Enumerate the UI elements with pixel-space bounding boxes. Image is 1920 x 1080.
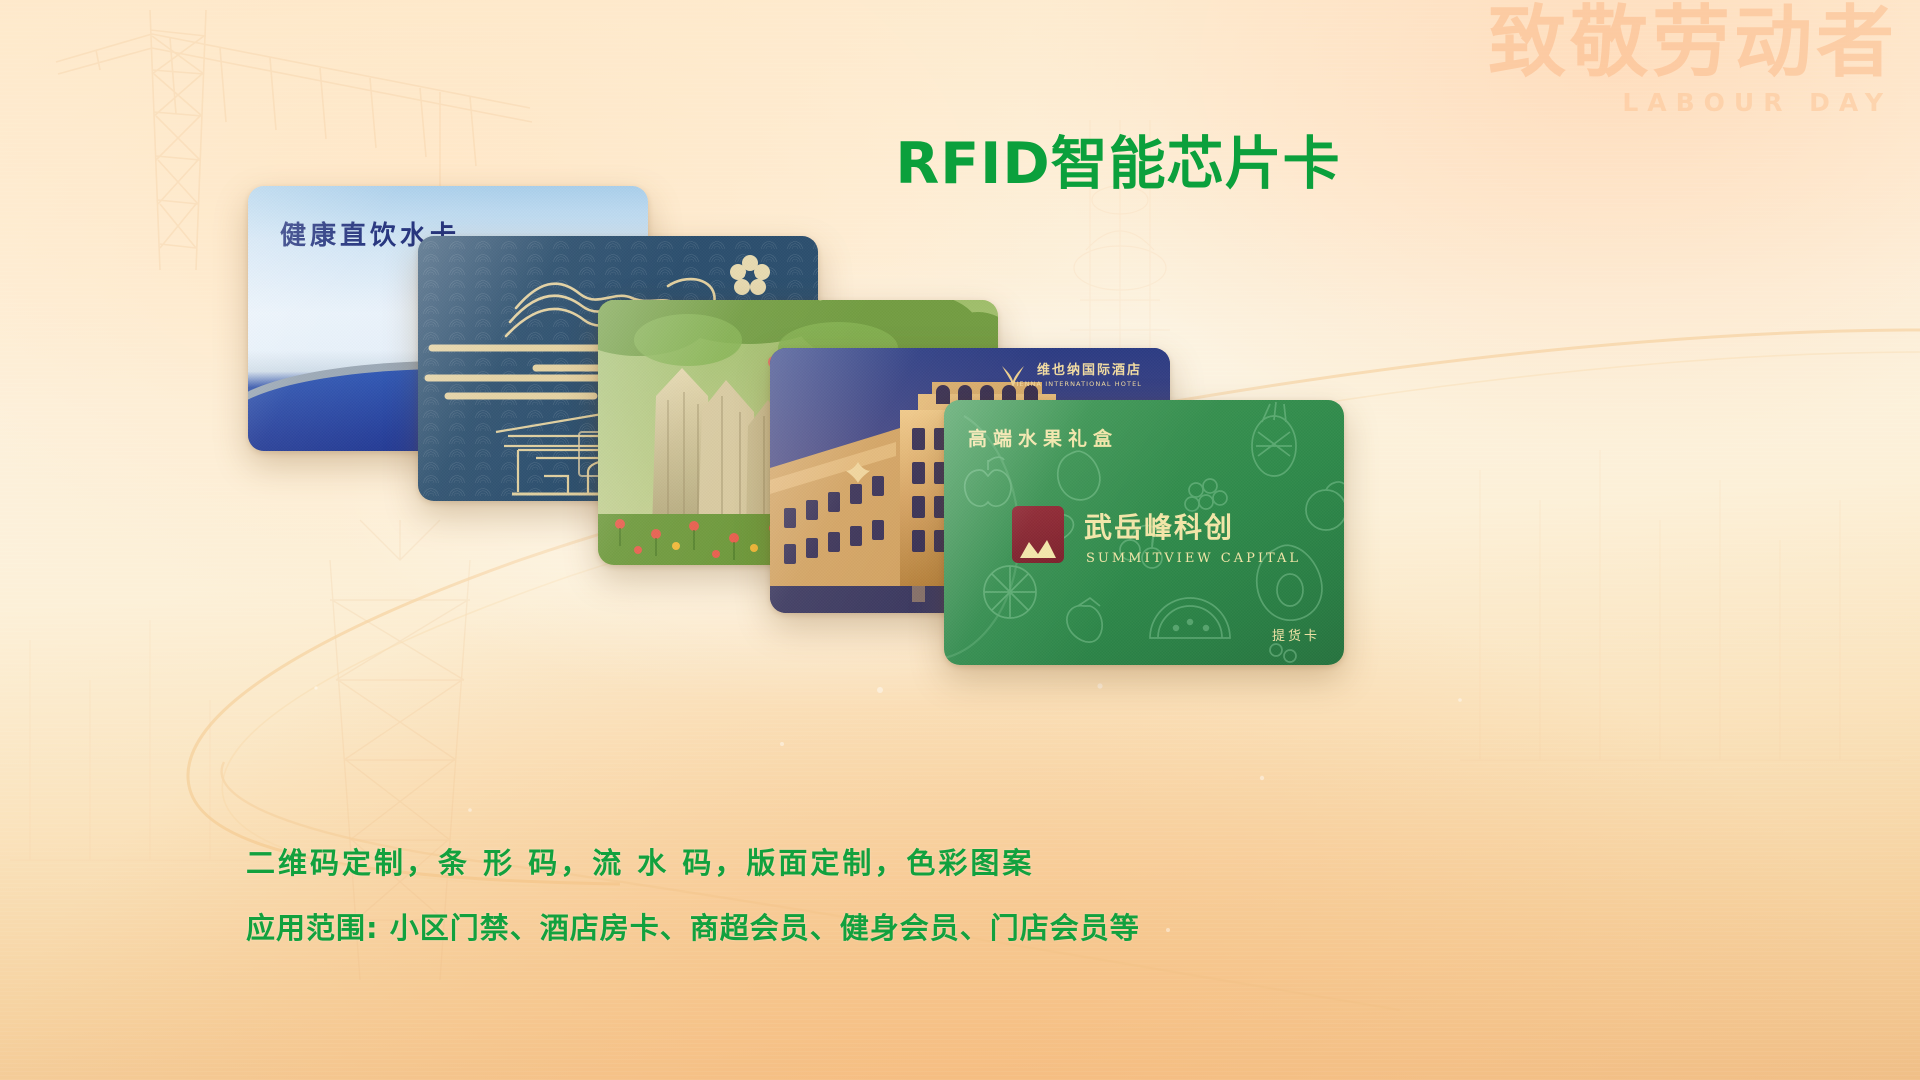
hotel-brand: 维也纳国际酒店 VIENNA INTERNATIONAL HOTEL [1011, 364, 1142, 388]
feature-line-1: 二维码定制，条 形 码，流 水 码，版面定制，色彩图案 [246, 840, 1140, 882]
summitview-name-en: SUMMITVIEW CAPITAL [1086, 551, 1301, 566]
card-fruit-footer: 提货卡 [1272, 625, 1320, 644]
feature-line-2: 应用范围: 小区门禁、酒店房卡、商超会员、健身会员、门店会员等 [246, 905, 1140, 947]
feature-copy: 二维码定制，条 形 码，流 水 码，版面定制，色彩图案 应用范围: 小区门禁、酒… [246, 840, 1140, 947]
summitview-logo-mark [1012, 506, 1064, 563]
page-title: RFID智能芯片卡 [858, 133, 1378, 197]
card-fruit-gift[interactable]: 高端水果礼盒 武岳峰科创 SUMMITVIEW CAPITAL 提货卡 [944, 400, 1344, 665]
labour-day-watermark: 致敬劳动者 LABOUR DAY [1488, 4, 1898, 115]
mountain-peak-icon [1020, 538, 1056, 558]
watermark-chinese: 致敬劳动者 [1488, 4, 1898, 82]
card-fruit-header: 高端水果礼盒 [968, 424, 1118, 451]
promo-banner: 致敬劳动者 LABOUR DAY RFID智能芯片卡 健康直饮水卡 [0, 0, 1920, 1080]
watermark-english: LABOUR DAY [1488, 90, 1892, 115]
hotel-brand-en: VIENNA INTERNATIONAL HOTEL [1011, 381, 1142, 388]
hotel-brand-cn: 维也纳国际酒店 [1011, 364, 1142, 379]
summitview-name-cn: 武岳峰科创 [1084, 506, 1234, 546]
